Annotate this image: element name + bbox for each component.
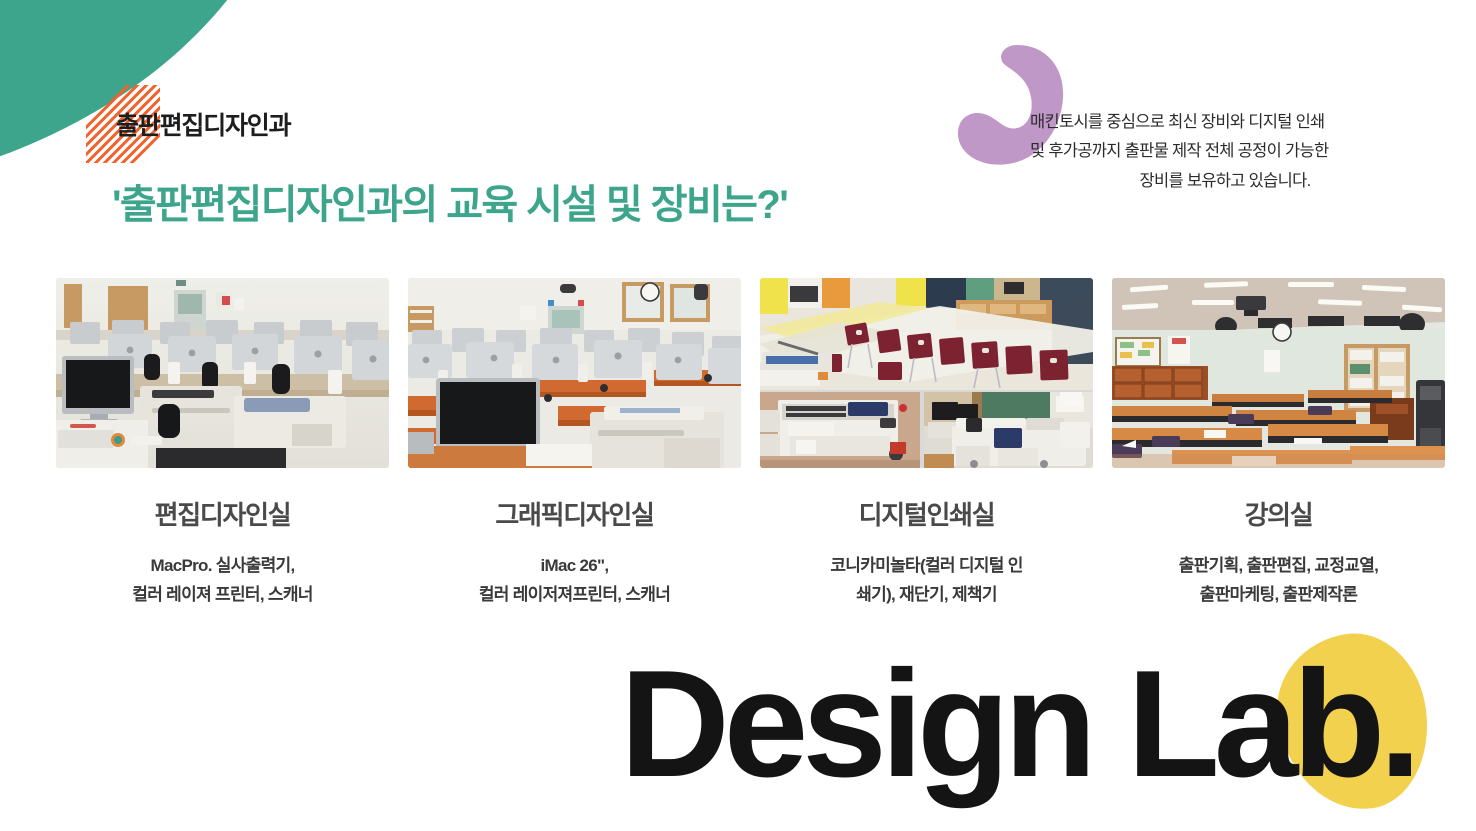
facility-card-description: iMac 26", 컬러 레이저져프린터, 스캐너 (425, 552, 725, 609)
facility-photo-editing-design-lab (56, 278, 389, 468)
facility-card: 디지털인쇄실 코니카미놀타(컬러 디지털 인 쇄기), 재단기, 제책기 (760, 278, 1093, 609)
intro-line-1: 매킨토시를 중심으로 최신 장비와 디지털 인쇄 (1030, 108, 1420, 137)
facility-desc-line: 쇄기), 재단기, 제책기 (777, 581, 1077, 610)
page-title: '출판편집디자인과의 교육 시설 및 장비는?' (112, 172, 787, 230)
facility-desc-line: MacPro. 실사출력기, (73, 552, 373, 581)
facility-desc-line: 코니카미놀타(컬러 디지털 인 (777, 552, 1077, 581)
facility-card-description: MacPro. 실사출력기, 컬러 레이져 프린터, 스캐너 (73, 552, 373, 609)
facility-card: 편집디자인실 MacPro. 실사출력기, 컬러 레이져 프린터, 스캐너 (56, 278, 389, 609)
facility-card: 그래픽디자인실 iMac 26", 컬러 레이저져프린터, 스캐너 (408, 278, 741, 609)
facility-card-title: 그래픽디자인실 (495, 495, 653, 532)
design-lab-wordmark: Design Lab. (620, 648, 1415, 800)
facility-card-title: 편집디자인실 (155, 495, 291, 532)
facility-desc-line: 출판기획, 출판편집, 교정교열, (1129, 552, 1429, 581)
facility-photo-digital-print-room (760, 278, 1093, 468)
facility-desc-line: 출판마케팅, 출판제작론 (1129, 581, 1429, 610)
facility-card-title: 디지털인쇄실 (859, 495, 995, 532)
facility-card-list: 편집디자인실 MacPro. 실사출력기, 컬러 레이져 프린터, 스캐너 (56, 278, 1424, 609)
facility-desc-line: iMac 26", (425, 552, 725, 581)
facility-photo-lecture-room (1112, 278, 1445, 468)
facility-card-description: 코니카미놀타(컬러 디지털 인 쇄기), 재단기, 제책기 (777, 552, 1077, 609)
facility-card-description: 출판기획, 출판편집, 교정교열, 출판마케팅, 출판제작론 (1129, 552, 1429, 609)
intro-line-3: 장비를 보유하고 있습니다. (1030, 167, 1420, 196)
facility-card-title: 강의실 (1245, 495, 1313, 532)
eyebrow-label: 출판편집디자인과 (116, 106, 290, 142)
slide-root: 출판편집디자인과 '출판편집디자인과의 교육 시설 및 장비는?' 매킨토시를 … (0, 0, 1476, 831)
intro-paragraph: 매킨토시를 중심으로 최신 장비와 디지털 인쇄 및 후가공까지 출판물 제작 … (1030, 108, 1420, 196)
intro-line-2: 및 후가공까지 출판물 제작 전체 공정이 가능한 (1030, 137, 1420, 166)
facility-card: 강의실 출판기획, 출판편집, 교정교열, 출판마케팅, 출판제작론 (1112, 278, 1445, 609)
facility-photo-graphic-design-lab (408, 278, 741, 468)
facility-desc-line: 컬러 레이져 프린터, 스캐너 (73, 581, 373, 610)
facility-desc-line: 컬러 레이저져프린터, 스캐너 (425, 581, 725, 610)
